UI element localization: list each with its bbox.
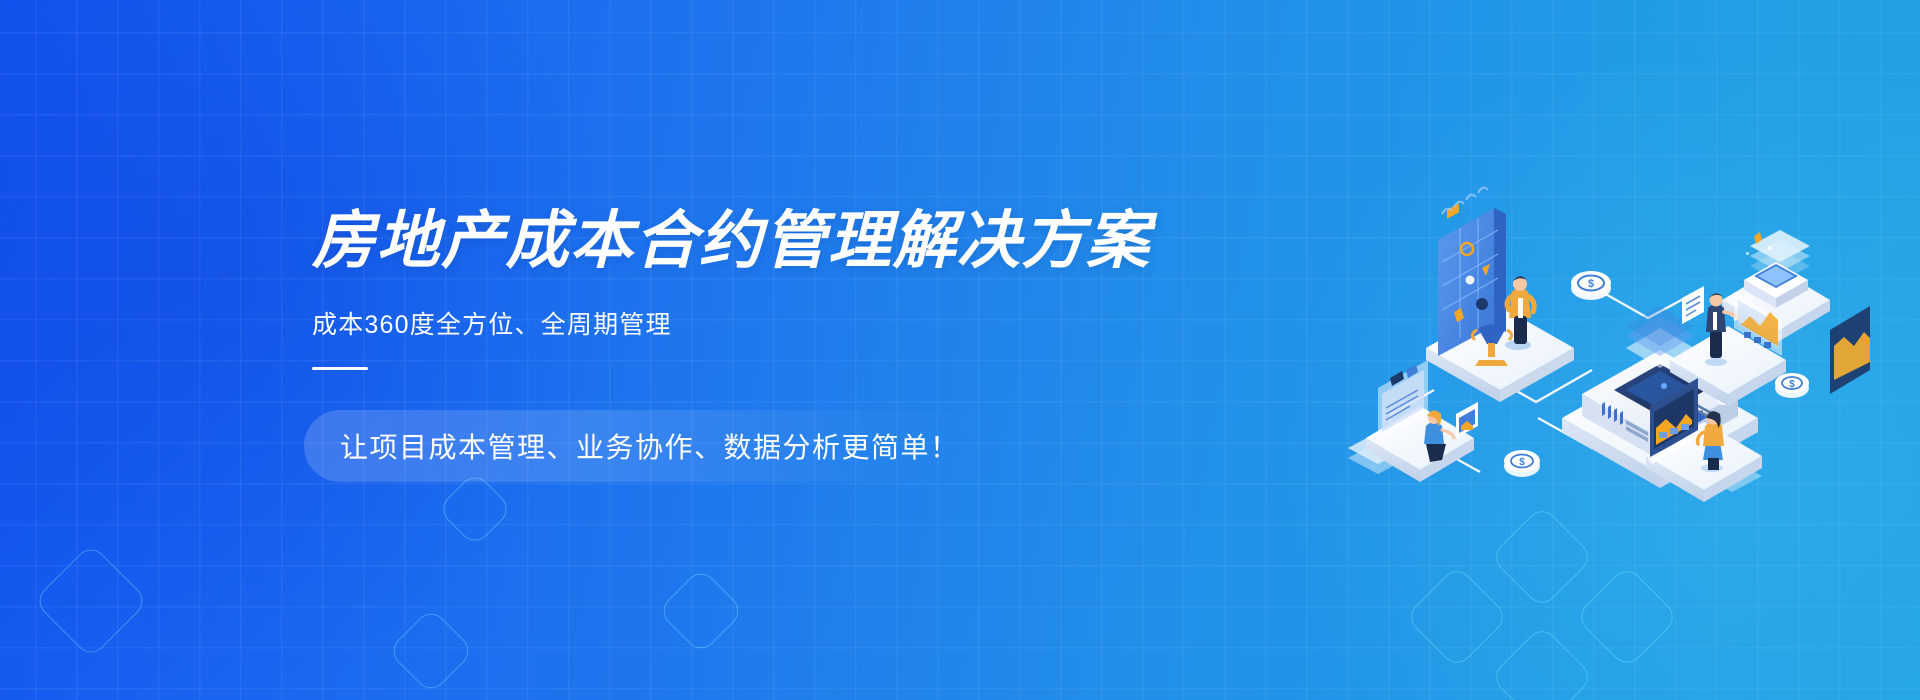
decorative-diamond-8: [1575, 565, 1680, 670]
hero-banner: 房地产成本合约管理解决方案 成本360度全方位、全周期管理 让项目成本管理、业务…: [0, 0, 1920, 700]
dollar-coin-stack-mid: $: [1775, 373, 1809, 398]
dollar-coin-stack-lower: $: [1504, 450, 1540, 477]
decorative-diamond-2: [387, 607, 475, 695]
dollar-coin-stack-top: $: [1571, 271, 1611, 300]
hero-illustration: $: [1330, 180, 1870, 520]
tagline-text: 让项目成本管理、业务协作、数据分析更简单！: [340, 410, 960, 482]
page-title: 房地产成本合约管理解决方案: [312, 208, 1192, 275]
hero-text-block: 房地产成本合约管理解决方案 成本360度全方位、全周期管理 让项目成本管理、业务…: [312, 208, 1192, 482]
title-divider: [312, 367, 368, 370]
decorative-diamond-7: [1490, 625, 1595, 700]
small-tablet-icon: [1456, 402, 1478, 438]
right-edge-card: [1830, 306, 1870, 394]
decorative-diamond-4: [437, 471, 513, 547]
decorative-diamond-1: [33, 543, 149, 659]
svg-text:$: $: [1519, 457, 1525, 468]
tagline-pill: 让项目成本管理、业务协作、数据分析更简单！: [312, 410, 1132, 482]
page-subtitle: 成本360度全方位、全周期管理: [312, 305, 1192, 341]
decorative-diamond-5: [1405, 565, 1510, 670]
svg-text:$: $: [1789, 379, 1795, 390]
document-card-right: [1682, 286, 1704, 324]
decorative-diamond-6: [1490, 505, 1595, 610]
svg-text:$: $: [1588, 278, 1594, 290]
decorative-diamond-3: [657, 567, 745, 655]
